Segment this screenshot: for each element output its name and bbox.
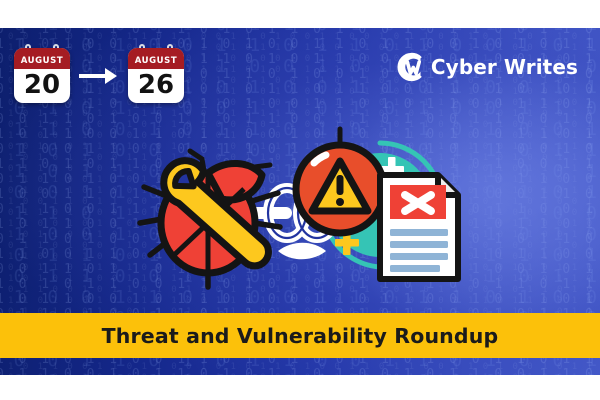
- brand-logo: Cyber Writes: [395, 50, 578, 84]
- right-arrow-icon: [79, 63, 119, 89]
- page-title: Threat and Vulnerability Roundup: [102, 324, 499, 348]
- calendar-start-day: 20: [14, 69, 70, 103]
- security-illustration: [128, 123, 468, 308]
- calendar-end: AUGUST 26: [128, 48, 184, 103]
- warning-alert-icon: [296, 129, 384, 233]
- calendar-start-month: AUGUST: [14, 48, 70, 69]
- graphic-canvas: 1 0 1 1 0 0 1 0 1 1 0 1 0 0 1 1 0 1 1 0 …: [0, 0, 600, 400]
- ribbon-accent: [278, 243, 326, 260]
- calendar-end-month: AUGUST: [128, 48, 184, 69]
- date-range: AUGUST 20 AUGUST 26: [14, 48, 184, 103]
- brand-name: Cyber Writes: [431, 55, 578, 79]
- arrow-head: [105, 68, 117, 84]
- title-band: Threat and Vulnerability Roundup: [0, 313, 600, 358]
- error-document-icon: [380, 175, 458, 279]
- calendar-end-day: 26: [128, 69, 184, 103]
- illustration-svg: [128, 123, 468, 308]
- cyber-writes-logo-icon: [395, 50, 429, 84]
- calendar-start: AUGUST 20: [14, 48, 70, 103]
